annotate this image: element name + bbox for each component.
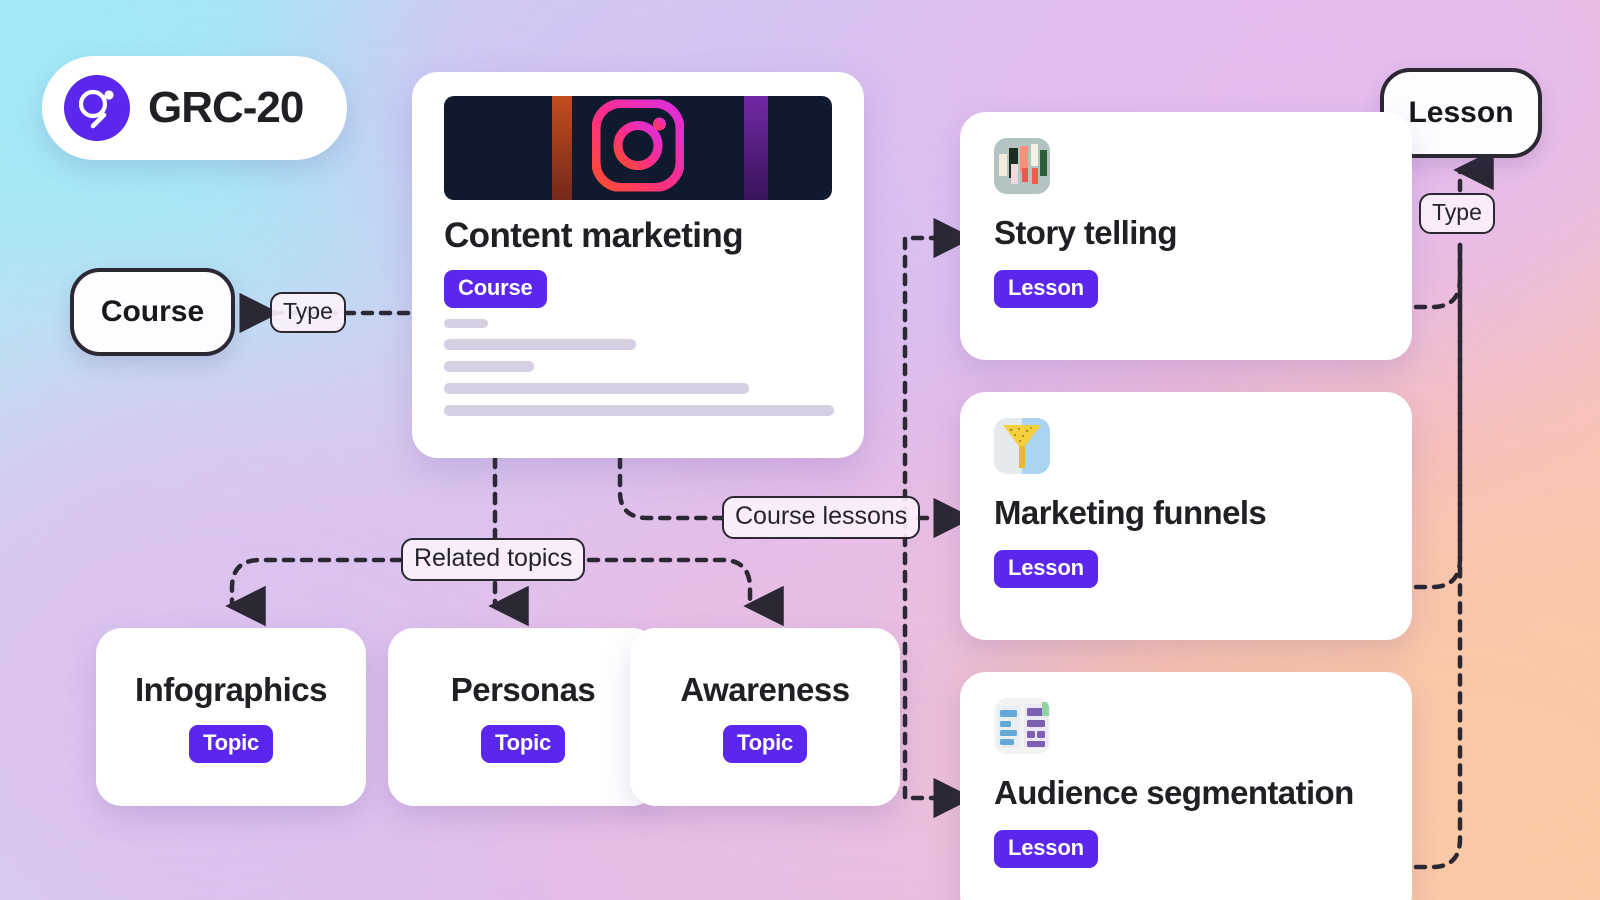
topic-badge[interactable]: Topic (481, 725, 565, 763)
sticky-notes-thumbnail-icon (994, 698, 1050, 754)
lesson-title: Marketing funnels (994, 494, 1412, 532)
type-node-lesson-label: Lesson (1408, 96, 1513, 130)
paper-collage-thumbnail-icon (994, 138, 1050, 194)
card-title: Content marketing (444, 216, 834, 256)
lesson-card-audience-segmentation[interactable]: Audience segmentation Lesson (960, 672, 1412, 900)
lesson-badge[interactable]: Lesson (994, 550, 1098, 588)
edge-label-type-left[interactable]: Type (270, 292, 346, 333)
topic-title: Awareness (680, 671, 849, 709)
lesson-title: Story telling (994, 214, 1412, 252)
card-banner (444, 96, 832, 200)
topic-badge[interactable]: Topic (723, 725, 807, 763)
brand-name: GRC-20 (148, 83, 303, 133)
content-marketing-card[interactable]: Content marketing Course (412, 72, 864, 458)
edge-label-course-lessons[interactable]: Course lessons (722, 496, 920, 539)
type-node-course-label: Course (101, 295, 204, 329)
brand-badge: GRC-20 (42, 56, 347, 160)
topic-card-personas[interactable]: Personas Topic (388, 628, 658, 806)
topic-title: Infographics (135, 671, 327, 709)
funnel-thumbnail-icon (994, 418, 1050, 474)
topic-card-infographics[interactable]: Infographics Topic (96, 628, 366, 806)
lesson-title: Audience segmentation (994, 774, 1412, 812)
lesson-card-marketing-funnels[interactable]: Marketing funnels Lesson (960, 392, 1412, 640)
edge-label-type-right[interactable]: Type (1419, 193, 1495, 234)
topic-title: Personas (451, 671, 596, 709)
edge-label-related-topics[interactable]: Related topics (401, 538, 585, 581)
lesson-badge[interactable]: Lesson (994, 830, 1098, 868)
lesson-card-story-telling[interactable]: Story telling Lesson (960, 112, 1412, 360)
type-node-course[interactable]: Course (70, 268, 235, 356)
grc-20-logo-icon (64, 75, 130, 141)
card-badge-wrap: Course (444, 270, 834, 308)
lesson-badge[interactable]: Lesson (994, 270, 1098, 308)
instagram-logo-icon (592, 100, 684, 197)
skeleton-lines (444, 319, 834, 416)
topic-badge[interactable]: Topic (189, 725, 273, 763)
status-badge[interactable]: Course (444, 270, 547, 308)
topic-card-awareness[interactable]: Awareness Topic (630, 628, 900, 806)
